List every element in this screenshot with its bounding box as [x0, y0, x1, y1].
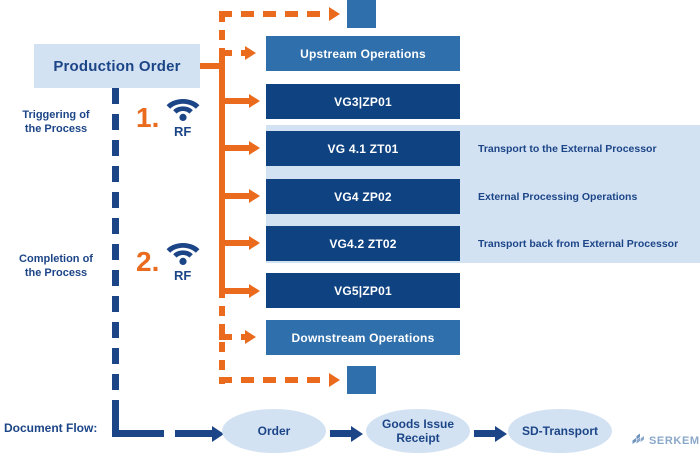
orange-connector-3	[219, 193, 249, 199]
stage-label-1-line1: Completion of	[6, 252, 106, 266]
orange-dashed-trunk-top	[219, 12, 225, 52]
document-flow-arrow-shaft-1	[330, 430, 352, 437]
document-flow-label: Document Flow:	[4, 421, 97, 435]
stage-label-0-line2: the Process	[6, 122, 106, 136]
operation-desc-4: Transport back from External Processor	[478, 226, 698, 261]
orange-arrowhead-upstream	[245, 46, 256, 60]
document-node-0[interactable]: Order	[222, 409, 326, 453]
serkem-logo-text: SERKEM.	[649, 435, 700, 447]
operation-label-0: Upstream Operations	[300, 47, 426, 61]
orange-connector-5	[219, 288, 249, 294]
orange-dashed-run-bottom	[219, 377, 329, 383]
operation-desc-text-4: Transport back from External Processor	[478, 238, 678, 250]
orange-arrowhead-top	[329, 7, 340, 21]
stage-label-1-line2: the Process	[6, 266, 106, 280]
operation-box-6[interactable]: Downstream Operations	[266, 320, 460, 355]
orange-dashed-stub-downstream	[219, 334, 245, 340]
orange-arrowhead-2	[249, 141, 260, 155]
orange-arrowhead-bottom	[329, 373, 340, 387]
rf-marker-0: 1. RF	[136, 96, 216, 144]
orange-connector-4	[219, 240, 249, 246]
orange-arrowhead-3	[249, 189, 260, 203]
operation-desc-text-2: Transport to the External Processor	[478, 143, 657, 155]
orange-arrowhead-downstream	[245, 330, 256, 344]
document-node-1-label-line1: Goods Issue	[382, 417, 454, 431]
orange-connector-1	[219, 98, 249, 104]
operation-label-4: VG4.2 ZT02	[329, 237, 396, 251]
document-flow-arrowhead-2	[495, 426, 507, 442]
operation-box-4[interactable]: VG4.2 ZT02	[266, 226, 460, 261]
orange-arrowhead-5	[249, 284, 260, 298]
document-flow-arrow-shaft	[183, 430, 213, 437]
document-flow-spine	[112, 88, 119, 413]
rf-marker-0-number: 1.	[136, 104, 159, 132]
serkem-logo: SERKEM.	[632, 432, 700, 450]
bottom-terminator-square	[347, 366, 376, 394]
stage-label-0-line1: Triggering of	[6, 108, 106, 122]
rf-marker-1-label: RF	[174, 268, 191, 283]
rf-marker-1-number: 2.	[136, 248, 159, 276]
operation-box-1[interactable]: VG3|ZP01	[266, 84, 460, 119]
stage-label-1: Completion of the Process	[6, 252, 106, 280]
document-flow-corner-horizontal	[112, 430, 142, 437]
orange-arrowhead-1	[249, 94, 260, 108]
operation-box-2[interactable]: VG 4.1 ZT01	[266, 131, 460, 166]
operation-label-5: VG5|ZP01	[334, 284, 392, 298]
rf-marker-0-label: RF	[174, 124, 191, 139]
operation-desc-2: Transport to the External Processor	[478, 131, 698, 166]
operation-box-5[interactable]: VG5|ZP01	[266, 273, 460, 308]
production-order-box[interactable]: Production Order	[34, 44, 200, 88]
production-order-label: Production Order	[53, 58, 180, 75]
document-node-1-label-line2: Receipt	[396, 431, 439, 445]
serkem-mark-icon	[632, 432, 645, 450]
rf-marker-1: 2. RF	[136, 240, 216, 288]
document-flow-arrow-shaft-2	[474, 430, 496, 437]
orange-main-trunk	[219, 48, 225, 291]
operation-desc-text-3: External Processing Operations	[478, 191, 637, 203]
diagram-canvas: Production Order Upstream Operations VG3…	[0, 0, 700, 455]
document-node-1[interactable]: Goods Issue Receipt	[366, 409, 470, 453]
operation-label-1: VG3|ZP01	[334, 95, 392, 109]
operation-label-3: VG4 ZP02	[334, 190, 392, 204]
operation-desc-3: External Processing Operations	[478, 179, 698, 214]
orange-dashed-stub-upstream	[219, 50, 245, 56]
operation-label-2: VG 4.1 ZT01	[328, 142, 399, 156]
orange-arrowhead-4	[249, 236, 260, 250]
document-node-2[interactable]: SD-Transport	[508, 409, 612, 453]
document-flow-arrowhead-1	[351, 426, 363, 442]
document-node-2-label: SD-Transport	[522, 424, 598, 438]
operation-label-6: Downstream Operations	[292, 331, 435, 345]
stage-label-0: Triggering of the Process	[6, 108, 106, 136]
top-terminator-square	[347, 0, 376, 28]
wifi-icon	[166, 240, 200, 271]
orange-dashed-run-top	[219, 11, 329, 17]
operation-box-3[interactable]: VG4 ZP02	[266, 179, 460, 214]
orange-connector-2	[219, 145, 249, 151]
operation-box-0[interactable]: Upstream Operations	[266, 36, 460, 71]
document-node-0-label: Order	[258, 424, 291, 438]
wifi-icon	[166, 96, 200, 127]
